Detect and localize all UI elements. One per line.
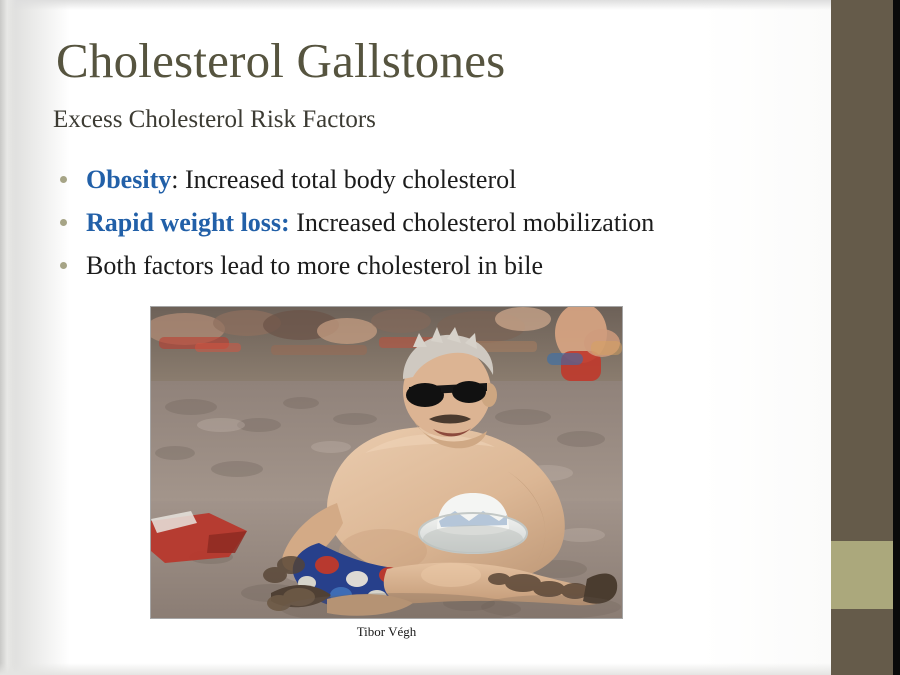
slide-right-edge: [893, 0, 900, 675]
slide-canvas: Cholesterol Gallstones Excess Cholestero…: [0, 0, 900, 675]
bullet-item-obesity: Obesity: Increased total body cholestero…: [60, 163, 820, 197]
sidebar-band: [831, 0, 893, 675]
bullet-dot-icon: [60, 219, 67, 226]
bullet-item-rapid-weight-loss: Rapid weight loss: Increased cholesterol…: [60, 206, 820, 240]
bullet-item-both-factors: Both factors lead to more cholesterol in…: [60, 249, 820, 283]
slide-bottom-edge-shading: [0, 663, 831, 675]
figure: Tibor Végh: [151, 307, 622, 618]
bullet-rest-label: Increased cholesterol mobilization: [290, 208, 655, 237]
slide-top-edge-shading: [0, 0, 900, 10]
bullet-lead-label: Rapid weight loss:: [86, 208, 290, 237]
bullet-dot-icon: [60, 176, 67, 183]
bullet-text: Rapid weight loss: Increased cholesterol…: [86, 206, 654, 240]
bullet-rest-label: : Increased total body cholesterol: [171, 165, 516, 194]
bullet-text: Both factors lead to more cholesterol in…: [86, 249, 543, 283]
slide-left-edge-shading: [0, 0, 16, 675]
figure-caption: Tibor Végh: [151, 623, 622, 640]
bullet-text: Obesity: Increased total body cholestero…: [86, 163, 516, 197]
slide-subtitle: Excess Cholesterol Risk Factors: [53, 104, 376, 135]
bullet-list: Obesity: Increased total body cholestero…: [60, 163, 820, 292]
sidebar-accent-block: [831, 541, 893, 609]
beach-photo: [151, 307, 622, 618]
bullet-rest-label: Both factors lead to more cholesterol in…: [86, 251, 543, 280]
bullet-lead-label: Obesity: [86, 165, 171, 194]
bullet-dot-icon: [60, 262, 67, 269]
slide-title: Cholesterol Gallstones: [56, 33, 505, 89]
